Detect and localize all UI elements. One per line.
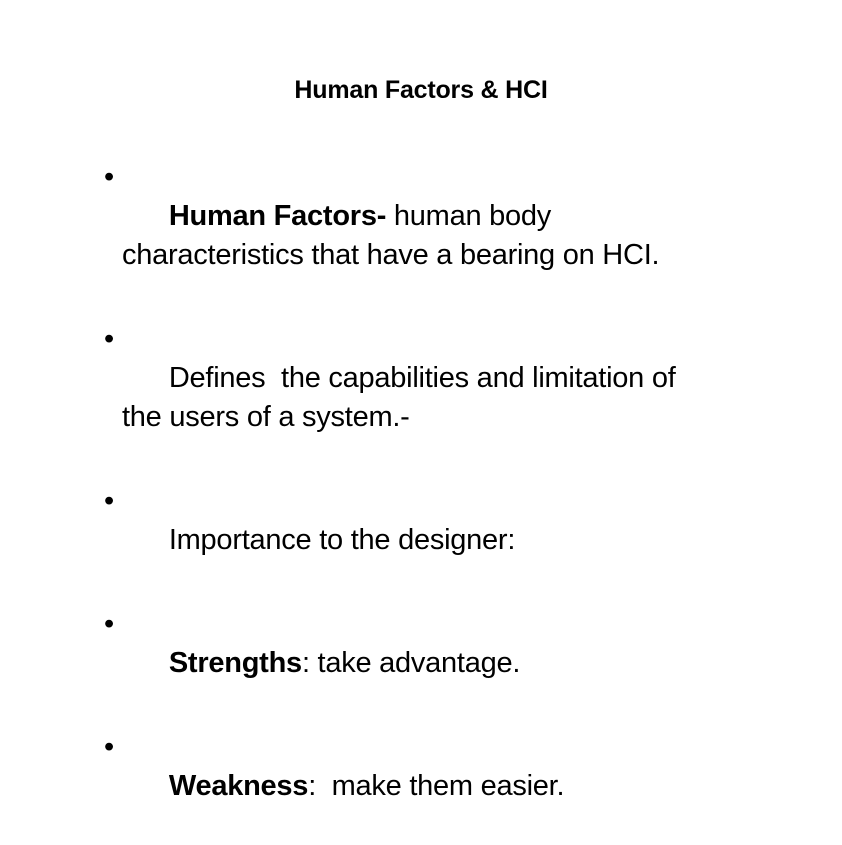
slide-canvas: Human Factors & HCI •Human Factors- huma… xyxy=(0,0,842,595)
list-item-body: : make them easier. xyxy=(308,770,564,802)
list-item-emphasis: Weakness xyxy=(169,770,308,802)
list-item-text: Weakness: make them easier. xyxy=(169,770,564,802)
bullet-dot-icon: • xyxy=(104,158,118,197)
list-item: •Strengths: take advantage. xyxy=(102,605,714,722)
list-item-text: Strengths: take advantage. xyxy=(169,647,520,679)
list-item-text: Defines the capabilities and limitation … xyxy=(122,362,683,433)
bullet-dot-icon: • xyxy=(104,482,118,521)
bullet-dot-icon: • xyxy=(104,605,118,644)
page-title: Human Factors & HCI xyxy=(0,75,842,105)
list-item-text: Human Factors- human body characteristic… xyxy=(122,200,659,271)
list-item: •Human Factors- human body characteristi… xyxy=(102,158,714,314)
list-item-emphasis: Human Factors- xyxy=(169,200,386,232)
bullet-list: •Human Factors- human body characteristi… xyxy=(102,158,714,845)
list-item-body: Defines the capabilities and limitation … xyxy=(122,362,683,433)
list-item-text: Importance to the designer: xyxy=(169,524,515,556)
list-item: •Defines the capabilities and limitation… xyxy=(102,320,714,476)
list-item-emphasis: Strengths xyxy=(169,647,302,679)
bullet-dot-icon: • xyxy=(104,728,118,767)
list-item: •Weakness: make them easier. xyxy=(102,728,714,845)
list-item-body: : take advantage. xyxy=(302,647,520,679)
list-item: •Importance to the designer: xyxy=(102,482,714,599)
bullet-dot-icon: • xyxy=(104,320,118,359)
list-item-body: Importance to the designer: xyxy=(169,524,515,556)
